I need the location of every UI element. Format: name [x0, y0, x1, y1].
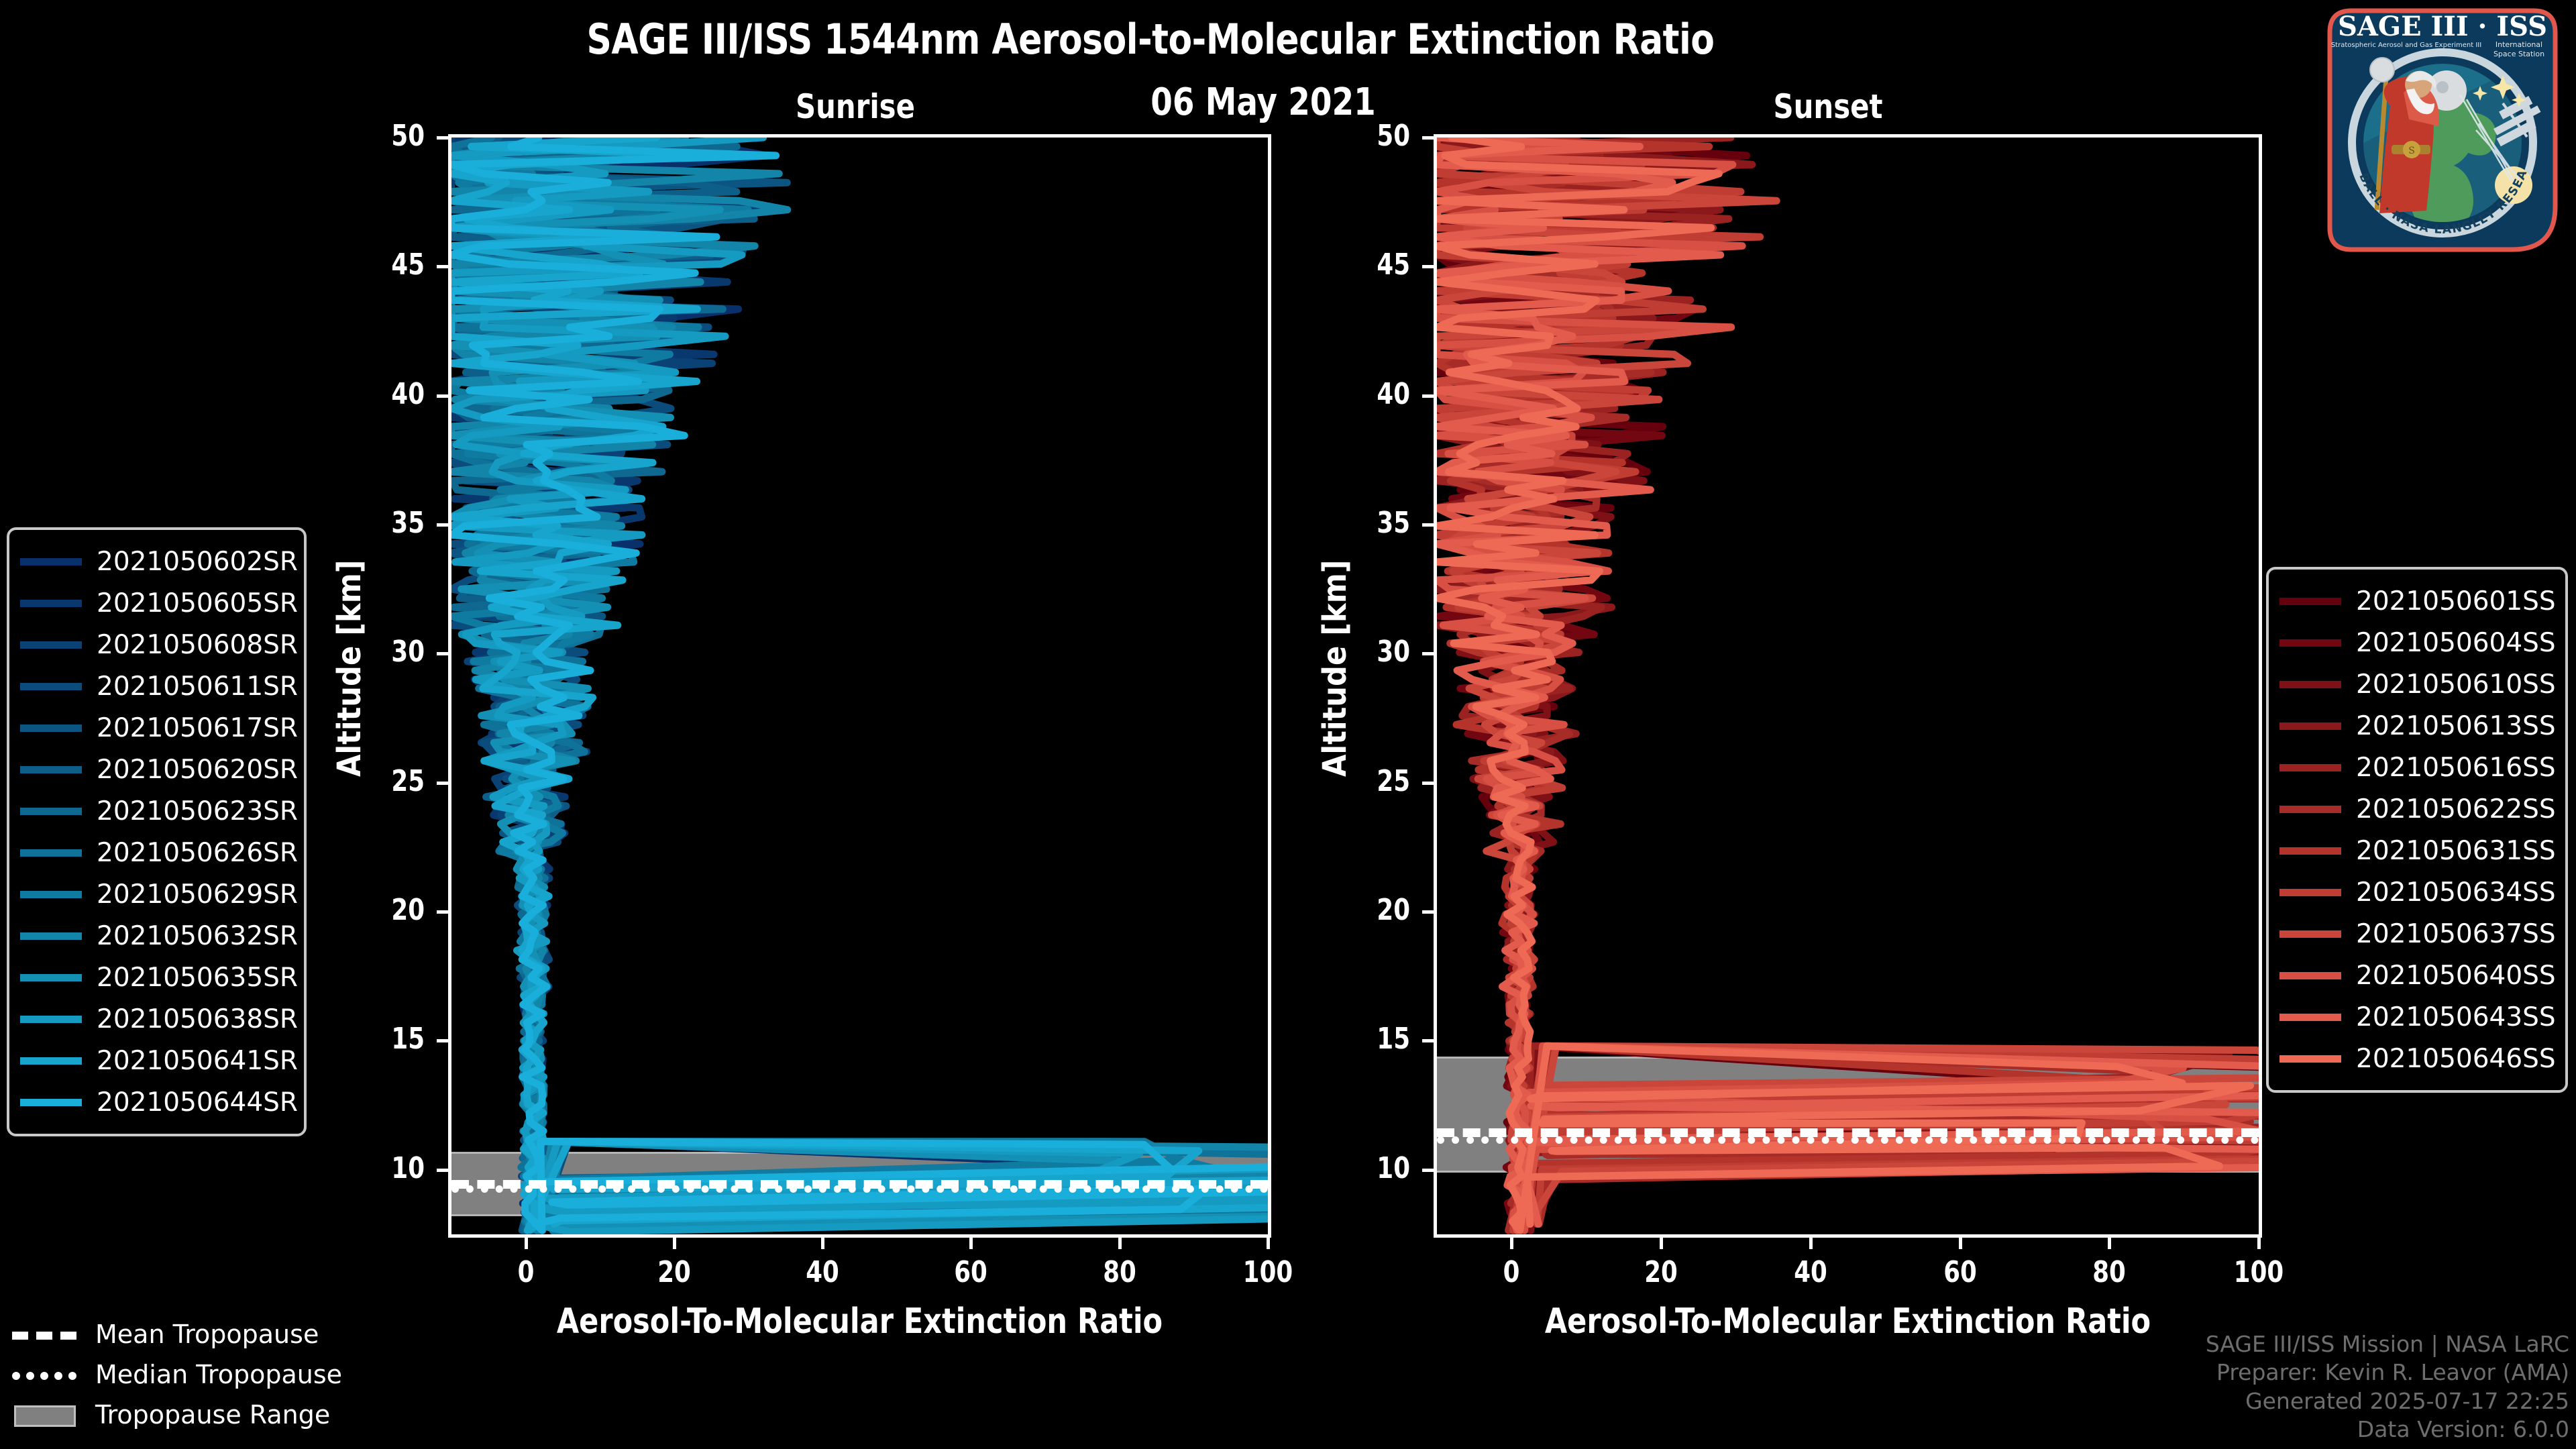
- page-title: SAGE III/ISS 1544nm Aerosol-to-Molecular…: [80, 15, 2220, 64]
- legend-item[interactable]: 2021050632SR: [20, 915, 290, 957]
- x-tick-mark: [1809, 1238, 1813, 1249]
- footer-line-generated: Generated 2025-07-17 22:25: [2206, 1387, 2569, 1415]
- figure-canvas: SAGE III/ISS 1544nm Aerosol-to-Molecular…: [0, 0, 2576, 1449]
- y-tick-mark: [1422, 394, 1434, 398]
- legend-color-swatch: [2279, 722, 2341, 730]
- footer-line-dataversion: Data Version: 6.0.0: [2206, 1415, 2569, 1444]
- y-tick-label: 20: [1338, 893, 1410, 927]
- y-tick-mark: [1422, 136, 1434, 140]
- legend-color-swatch: [20, 974, 82, 981]
- patch-subtitle: Stratospheric Aerosol and Gas Experiment…: [2331, 42, 2481, 49]
- legend-item[interactable]: 2021050643SS: [2279, 996, 2552, 1038]
- legend-item[interactable]: 2021050626SR: [20, 832, 290, 873]
- legend-item-label: 2021050637SS: [2356, 919, 2556, 949]
- y-tick-mark: [437, 782, 448, 785]
- y-tick-label: 35: [352, 506, 425, 540]
- legend-item[interactable]: 2021050638SR: [20, 998, 290, 1040]
- legend-item[interactable]: 2021050604SS: [2279, 622, 2552, 663]
- x-tick-label: 40: [780, 1255, 865, 1289]
- key-label-mean: Mean Tropopause: [95, 1320, 319, 1349]
- legend-color-swatch: [2279, 806, 2341, 813]
- y-tick-label: 35: [1338, 506, 1410, 540]
- key-row-mean-tropopause: Mean Tropopause: [12, 1318, 388, 1350]
- svg-text:S: S: [2408, 146, 2415, 156]
- legend-item[interactable]: 2021050644SR: [20, 1081, 290, 1123]
- footer-credits: SAGE III/ISS Mission | NASA LaRC Prepare…: [2206, 1330, 2569, 1444]
- legend-color-swatch: [20, 808, 82, 815]
- legend-item[interactable]: 2021050602SR: [20, 541, 290, 582]
- y-tick-mark: [437, 652, 448, 655]
- legend-item-label: 2021050634SS: [2356, 877, 2556, 908]
- x-tick-mark: [2257, 1238, 2261, 1249]
- legend-color-swatch: [2279, 972, 2341, 979]
- median-tropopause-line: [451, 1185, 1268, 1193]
- legend-color-swatch: [20, 849, 82, 857]
- x-tick-mark: [969, 1238, 973, 1249]
- legend-item-label: 2021050626SR: [97, 838, 298, 868]
- tropopause-key: Mean Tropopause Median Tropopause Tropop…: [12, 1318, 388, 1439]
- legend-item[interactable]: 2021050646SS: [2279, 1038, 2552, 1079]
- x-tick-label: 20: [1619, 1255, 1703, 1289]
- legend-color-swatch: [20, 1016, 82, 1023]
- legend-item[interactable]: 2021050611SR: [20, 665, 290, 707]
- x-tick-mark: [2108, 1238, 2111, 1249]
- legend-item[interactable]: 2021050641SR: [20, 1040, 290, 1081]
- legend-item-label: 2021050631SS: [2356, 836, 2556, 866]
- y-tick-mark: [437, 265, 448, 268]
- date-title: 06 May 2021: [1045, 80, 1482, 124]
- y-tick-label: 10: [352, 1151, 425, 1185]
- x-tick-mark: [525, 1238, 528, 1249]
- x-tick-mark: [1660, 1238, 1663, 1249]
- y-tick-mark: [1422, 523, 1434, 527]
- legend-color-swatch: [20, 558, 82, 566]
- sage3-iss-mission-patch-logo: S SAGE III · ISS Stratospheric Aerosol a…: [2318, 5, 2567, 255]
- legend-item[interactable]: 2021050601SS: [2279, 580, 2552, 622]
- footer-line-mission: SAGE III/ISS Mission | NASA LaRC: [2206, 1330, 2569, 1358]
- y-tick-label: 10: [1338, 1151, 1410, 1185]
- legend-item-label: 2021050605SR: [97, 588, 298, 619]
- legend-item[interactable]: 2021050629SR: [20, 873, 290, 915]
- legend-color-swatch: [20, 932, 82, 940]
- x-tick-label: 60: [928, 1255, 1013, 1289]
- legend-item-label: 2021050641SR: [97, 1046, 298, 1076]
- legend-item[interactable]: 2021050637SS: [2279, 913, 2552, 955]
- patch-iss-line2: Space Station: [2493, 50, 2544, 58]
- y-tick-label: 45: [1338, 248, 1410, 282]
- y-tick-label: 50: [352, 119, 425, 153]
- legend-item-label: 2021050643SS: [2356, 1002, 2556, 1032]
- legend-item-label: 2021050604SS: [2356, 628, 2556, 658]
- x-tick-label: 100: [1226, 1255, 1310, 1289]
- y-tick-mark: [437, 136, 448, 140]
- legend-item-label: 2021050622SS: [2356, 794, 2556, 824]
- legend-color-swatch: [2279, 764, 2341, 771]
- legend-item-label: 2021050611SR: [97, 672, 298, 702]
- legend-color-swatch: [20, 891, 82, 898]
- legend-sunset[interactable]: 2021050601SS2021050604SS2021050610SS2021…: [2266, 567, 2568, 1093]
- legend-item[interactable]: 2021050635SR: [20, 957, 290, 998]
- legend-color-swatch: [20, 724, 82, 732]
- legend-item-label: 2021050629SR: [97, 879, 298, 910]
- key-row-median-tropopause: Median Tropopause: [12, 1358, 388, 1391]
- dashed-line-icon: [12, 1328, 76, 1341]
- legend-item-label: 2021050616SS: [2356, 753, 2556, 783]
- legend-item-label: 2021050623SR: [97, 796, 298, 826]
- legend-item-label: 2021050613SS: [2356, 711, 2556, 741]
- x-tick-label: 80: [1077, 1255, 1162, 1289]
- legend-color-swatch: [2279, 847, 2341, 855]
- y-tick-mark: [1422, 265, 1434, 268]
- x-tick-mark: [1267, 1238, 1270, 1249]
- legend-item-label: 2021050610SS: [2356, 669, 2556, 700]
- x-tick-label: 0: [1469, 1255, 1554, 1289]
- legend-color-swatch: [2279, 1055, 2341, 1063]
- legend-item-label: 2021050608SR: [97, 630, 298, 660]
- y-tick-mark: [437, 1039, 448, 1042]
- legend-item[interactable]: 2021050640SS: [2279, 955, 2552, 996]
- x-tick-label: 20: [632, 1255, 716, 1289]
- x-tick-mark: [821, 1238, 824, 1249]
- legend-color-swatch: [20, 1057, 82, 1065]
- x-tick-mark: [1118, 1238, 1122, 1249]
- legend-item[interactable]: 2021050608SR: [20, 624, 290, 665]
- legend-color-swatch: [2279, 889, 2341, 896]
- patch-title: SAGE III · ISS: [2338, 11, 2547, 42]
- legend-color-swatch: [2279, 1014, 2341, 1021]
- y-tick-mark: [437, 523, 448, 527]
- key-label-median: Median Tropopause: [95, 1360, 342, 1389]
- footer-line-preparer: Preparer: Kevin R. Leavor (AMA): [2206, 1358, 2569, 1387]
- panel-title-sunrise: Sunrise: [684, 87, 1027, 126]
- y-tick-mark: [1422, 910, 1434, 914]
- series-curves: [451, 138, 1268, 1234]
- legend-item[interactable]: 2021050634SS: [2279, 871, 2552, 913]
- legend-color-swatch: [2279, 639, 2341, 647]
- legend-item-label: 2021050635SR: [97, 963, 298, 993]
- series-curves: [1437, 138, 2259, 1234]
- legend-item-label: 2021050644SR: [97, 1087, 298, 1118]
- legend-item[interactable]: 2021050616SS: [2279, 747, 2552, 788]
- legend-item[interactable]: 2021050622SS: [2279, 788, 2552, 830]
- y-tick-mark: [437, 394, 448, 398]
- legend-item[interactable]: 2021050623SR: [20, 790, 290, 832]
- y-tick-mark: [1422, 782, 1434, 785]
- y-tick-label: 40: [352, 377, 425, 411]
- y-tick-label: 40: [1338, 377, 1410, 411]
- y-tick-mark: [437, 1169, 448, 1172]
- legend-item[interactable]: 2021050631SS: [2279, 830, 2552, 871]
- legend-item-label: 2021050640SS: [2356, 961, 2556, 991]
- y-tick-label: 50: [1338, 119, 1410, 153]
- key-row-tropopause-range: Tropopause Range: [12, 1399, 388, 1431]
- y-tick-label: 15: [1338, 1022, 1410, 1056]
- y-tick-label: 20: [352, 893, 425, 927]
- median-tropopause-line: [1437, 1136, 2259, 1144]
- x-tick-label: 100: [2216, 1255, 2301, 1289]
- x-tick-mark: [1959, 1238, 1962, 1249]
- legend-item-label: 2021050632SR: [97, 921, 298, 951]
- y-tick-mark: [437, 910, 448, 914]
- legend-color-swatch: [2279, 598, 2341, 605]
- legend-item[interactable]: 2021050605SR: [20, 582, 290, 624]
- legend-item-label: 2021050646SS: [2356, 1044, 2556, 1074]
- x-axis-title-sunset: Aerosol-To-Molecular Extinction Ratio: [1436, 1301, 2259, 1342]
- y-tick-label: 45: [352, 248, 425, 282]
- legend-color-swatch: [20, 600, 82, 607]
- x-tick-mark: [673, 1238, 676, 1249]
- filled-band-icon: [12, 1408, 76, 1421]
- legend-item-label: 2021050602SR: [97, 547, 298, 577]
- x-tick-label: 60: [1918, 1255, 2002, 1289]
- patch-iss-line1: International: [2495, 40, 2542, 49]
- plot-sunset: [1434, 134, 2262, 1238]
- legend-item-label: 2021050638SR: [97, 1004, 298, 1034]
- legend-sunrise[interactable]: 2021050602SR2021050605SR2021050608SR2021…: [7, 527, 307, 1136]
- legend-color-swatch: [20, 1099, 82, 1106]
- legend-item-label: 2021050617SR: [97, 713, 298, 743]
- y-axis-title-sunset: Altitude [km]: [1316, 559, 1354, 776]
- y-axis-title-sunrise: Altitude [km]: [331, 559, 368, 776]
- panel-title-sunset: Sunset: [1656, 87, 2000, 126]
- x-axis-title-sunrise: Aerosol-To-Molecular Extinction Ratio: [450, 1301, 1269, 1342]
- dotted-line-icon: [12, 1368, 76, 1381]
- legend-item-label: 2021050601SS: [2356, 586, 2556, 616]
- legend-color-swatch: [20, 766, 82, 773]
- x-tick-label: 0: [484, 1255, 568, 1289]
- y-tick-mark: [1422, 652, 1434, 655]
- x-tick-label: 80: [2067, 1255, 2151, 1289]
- x-tick-mark: [1510, 1238, 1513, 1249]
- legend-item[interactable]: 2021050613SS: [2279, 705, 2552, 747]
- legend-color-swatch: [2279, 681, 2341, 688]
- y-tick-mark: [1422, 1169, 1434, 1172]
- legend-color-swatch: [20, 683, 82, 690]
- legend-color-swatch: [2279, 930, 2341, 938]
- legend-color-swatch: [20, 641, 82, 649]
- key-label-range: Tropopause Range: [95, 1400, 330, 1430]
- legend-item[interactable]: 2021050610SS: [2279, 663, 2552, 705]
- legend-item[interactable]: 2021050617SR: [20, 707, 290, 749]
- x-tick-label: 40: [1768, 1255, 1853, 1289]
- y-tick-label: 15: [352, 1022, 425, 1056]
- y-tick-mark: [1422, 1039, 1434, 1042]
- legend-item[interactable]: 2021050620SR: [20, 749, 290, 790]
- plot-sunrise: [448, 134, 1271, 1238]
- legend-item-label: 2021050620SR: [97, 755, 298, 785]
